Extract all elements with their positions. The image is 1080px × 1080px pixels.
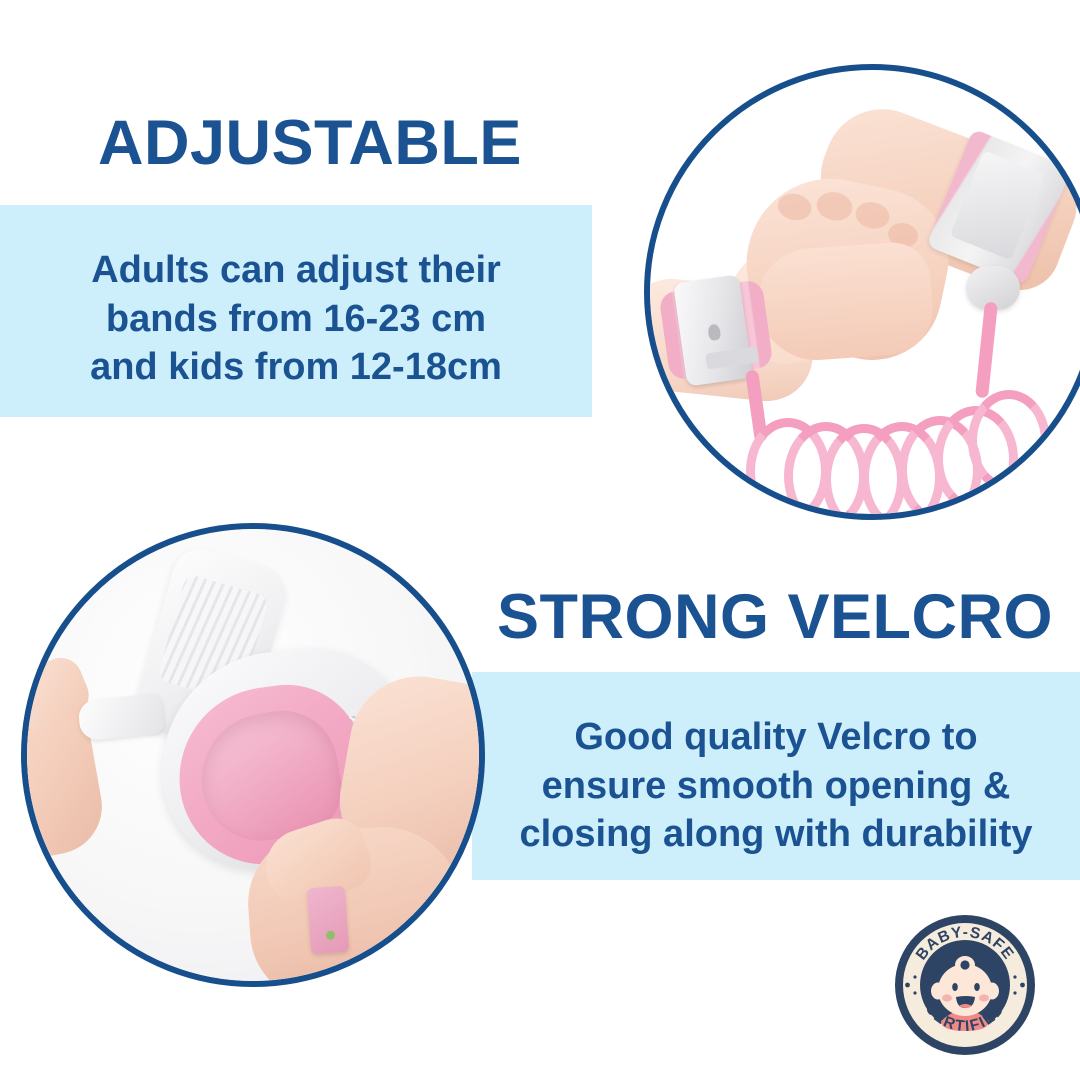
pink-clasp-tag — [307, 886, 350, 954]
velcro-description: Good quality Velcro to ensure smooth ope… — [472, 713, 1080, 859]
velcro-description-line-3: closing along with durability — [472, 810, 1080, 859]
cable-lead-adult — [975, 302, 998, 399]
badge-dot — [1013, 975, 1016, 978]
adjustable-description: Adults can adjust their bands from 16-23… — [0, 246, 592, 392]
knuckle — [853, 199, 892, 232]
adjustable-description-line-1: Adults can adjust their — [0, 246, 592, 295]
cable-coil — [968, 390, 1050, 492]
adjustable-description-line-2: bands from 16-23 cm — [0, 295, 592, 344]
adult-band-panel — [950, 150, 1046, 260]
child-band-keyhole — [707, 324, 721, 342]
baby-safe-certified-badge: BABY-SAFE CERTIFIED — [893, 913, 1037, 1057]
badge-dot — [1013, 991, 1016, 994]
child-wrist-band — [657, 271, 774, 388]
knuckle — [775, 191, 814, 224]
velcro-photo-scene — [27, 529, 479, 981]
knuckle — [814, 189, 855, 224]
badge-dot — [1020, 983, 1025, 988]
child-band-release-tab — [705, 346, 759, 369]
rivet-dot — [326, 931, 336, 941]
badge-dot — [913, 975, 916, 978]
velcro-description-line-1: Good quality Velcro to — [472, 713, 1080, 762]
adult-fingers — [754, 240, 935, 364]
product-feature-infographic: ADJUSTABLE Adults can adjust their bands… — [0, 0, 1080, 1080]
adjustable-heading: ADJUSTABLE — [98, 112, 522, 175]
adjustable-product-photo — [644, 64, 1080, 520]
badge-dot — [905, 983, 910, 988]
velcro-product-photo — [21, 523, 485, 987]
child-band-buckle — [673, 274, 753, 386]
adjustable-description-line-3: and kids from 12-18cm — [0, 343, 592, 392]
badge-dot — [913, 991, 916, 994]
velcro-description-line-2: ensure smooth opening & — [472, 762, 1080, 811]
velcro-heading: STRONG VELCRO — [497, 586, 1053, 649]
adjustable-photo-scene — [650, 70, 1080, 514]
